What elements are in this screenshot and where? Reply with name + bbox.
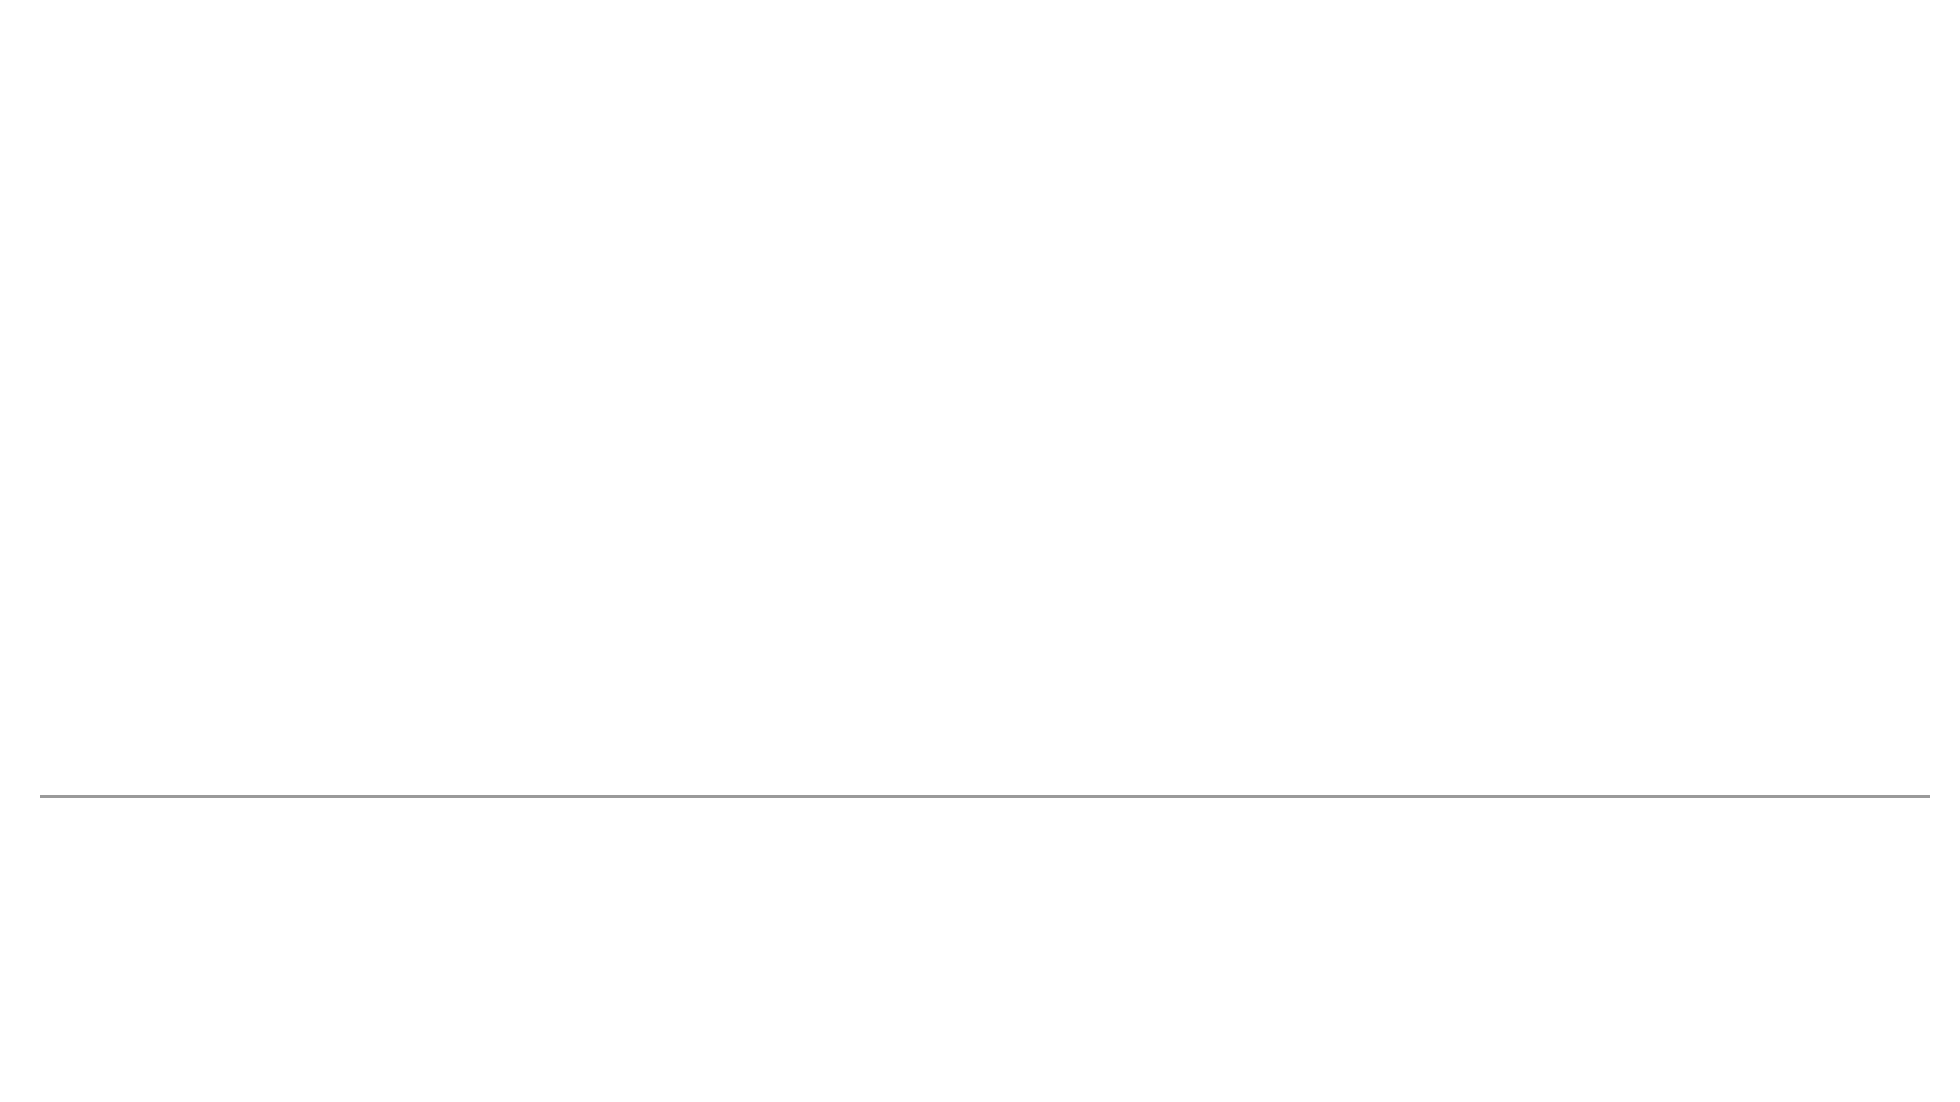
chart-root <box>0 0 1960 1102</box>
plot-area <box>40 85 1840 715</box>
momentum-signal-curve <box>40 85 1840 715</box>
x-axis-line <box>40 795 1930 798</box>
